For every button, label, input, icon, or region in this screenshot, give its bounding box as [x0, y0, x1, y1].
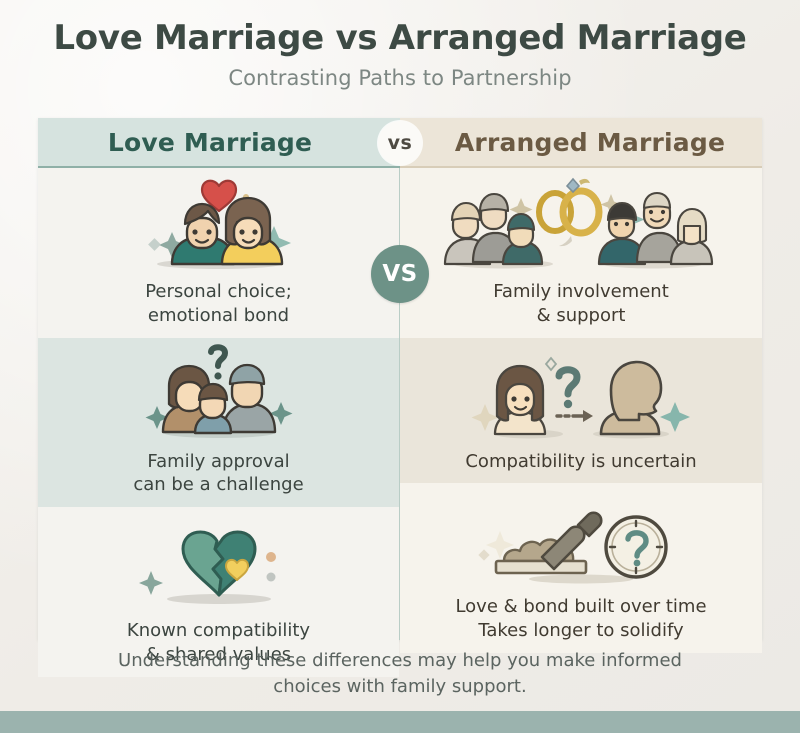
- cell-left-row-1: Personal choice; emotional bond: [38, 168, 399, 338]
- panel-body: Personal choice; emotional bond: [38, 168, 762, 640]
- column-header-love-marriage: Love Marriage: [38, 118, 400, 168]
- infographic-root: Love Marriage vs Arranged Marriage Contr…: [0, 0, 800, 733]
- cell-right-row-3-label: Love & bond built over time Takes longer…: [455, 595, 706, 643]
- woman-facing-unknown-silhouette-icon: [471, 344, 691, 440]
- cell-right-row-3: Love & bond built over time Takes longer…: [400, 483, 762, 653]
- page-title: Love Marriage vs Arranged Marriage: [0, 18, 800, 58]
- two-families-with-wedding-rings-icon: [441, 174, 721, 270]
- cell-left-row-1-label: Personal choice; emotional bond: [145, 280, 292, 328]
- title-block: Love Marriage vs Arranged Marriage Contr…: [0, 18, 800, 90]
- family-with-question-mark-icon: [119, 344, 319, 440]
- cell-right-row-1-label: Family involvement & support: [493, 280, 669, 328]
- couple-with-heart-icon: [114, 174, 324, 270]
- cracked-heart-with-small-heart-icon: [119, 513, 319, 609]
- cell-left-row-2: Family approval can be a challenge: [38, 338, 399, 508]
- bottom-accent-bar: [0, 711, 800, 733]
- trowel-and-clock-icon: [476, 489, 686, 585]
- footer-note: Understanding these differences may help…: [0, 648, 800, 699]
- cell-left-row-2-label: Family approval can be a challenge: [133, 450, 303, 498]
- cell-right-row-2: Compatibility is uncertain: [400, 338, 762, 484]
- cell-right-row-1: Family involvement & support: [400, 168, 762, 338]
- column-header-love-marriage-label: Love Marriage: [108, 128, 312, 157]
- cell-right-row-2-label: Compatibility is uncertain: [465, 450, 696, 474]
- column-love-marriage: Personal choice; emotional bond: [38, 168, 400, 640]
- panel-header-row: Love Marriage Arranged Marriage vs: [38, 118, 762, 168]
- column-arranged-marriage: Family involvement & support: [400, 168, 762, 640]
- vs-badge-center: VS: [371, 245, 429, 303]
- column-header-arranged-marriage: Arranged Marriage: [400, 118, 762, 168]
- page-subtitle: Contrasting Paths to Partnership: [0, 66, 800, 90]
- comparison-panel: Love Marriage Arranged Marriage vs: [38, 118, 762, 640]
- vs-badge-header: vs: [378, 121, 422, 165]
- column-header-arranged-marriage-label: Arranged Marriage: [455, 128, 725, 157]
